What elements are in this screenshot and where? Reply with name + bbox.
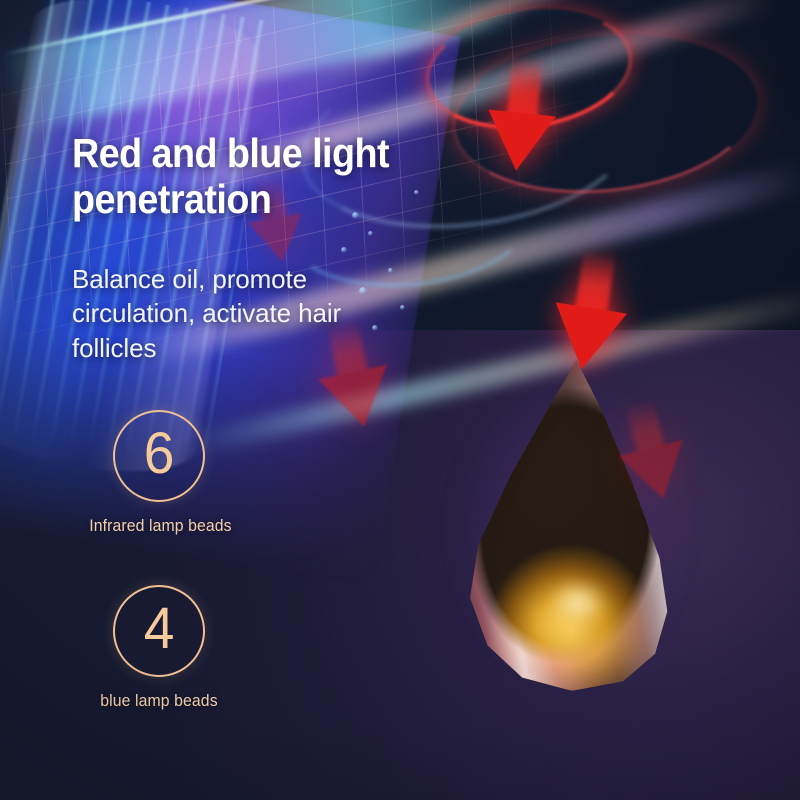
red-arrow-2-head	[546, 302, 627, 374]
page-title: Red and blue light penetration	[72, 131, 422, 223]
badge-caption-blue: blue lamp beads	[89, 691, 229, 711]
badge-caption-infrared: Infrared lamp beads	[89, 516, 229, 536]
badge-ring-infrared: 6	[113, 410, 205, 502]
red-arrow-1-head	[482, 109, 556, 174]
badge-number-blue: 4	[144, 600, 175, 658]
red-arrow-1	[484, 55, 559, 173]
subtitle-text: Balance oil, promote circulation, activa…	[72, 262, 412, 365]
product-feature-poster: Red and blue light penetration Balance o…	[0, 0, 800, 800]
bubble-3	[341, 247, 347, 253]
badge-infrared-lamp-beads: 6 Infrared lamp beads	[84, 410, 234, 536]
badge-blue-lamp-beads: 4 blue lamp beads	[84, 585, 234, 711]
bubble-2	[368, 231, 373, 236]
badge-ring-blue: 4	[113, 585, 205, 677]
badge-number-infrared: 6	[144, 425, 175, 483]
red-arrow-3-head	[318, 365, 398, 434]
